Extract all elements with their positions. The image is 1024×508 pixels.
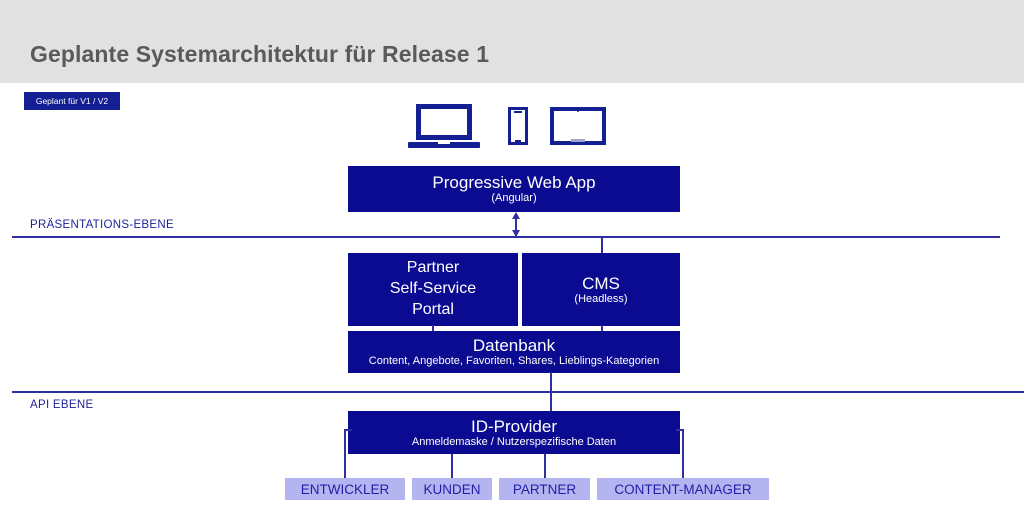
node-title-portal-line1: Partner [407,258,459,279]
connector-id-provider-to-kunden [451,454,453,478]
tablet-home-icon [571,139,585,142]
presentation-layer-divider [12,236,1000,238]
node-id-provider[interactable]: ID-Provider Anmeldemaske / Nutzerspezifi… [348,411,680,454]
node-progressive-web-app[interactable]: Progressive Web App (Angular) [348,166,680,212]
layer-label-api: API EBENE [30,399,93,411]
connector-api-layer-to-id-provider [550,392,552,412]
smartphone-speaker-icon [514,111,522,113]
client-devices-group [408,104,608,154]
version-badge: Geplant für V1 / V2 [24,92,120,110]
connector-id-provider-to-entwickler [344,454,346,478]
role-chip-kunden[interactable]: KUNDEN [412,478,492,500]
laptop-notch-icon [438,141,450,144]
node-subtitle-pwa: (Angular) [491,192,536,204]
node-title-cms: CMS [582,274,620,293]
layer-label-presentation: PRÄSENTATIONS-EBENE [30,219,174,231]
node-subtitle-id-provider: Anmeldemaske / Nutzerspezifische Daten [412,436,616,448]
arrowhead-up-icon [512,212,520,219]
node-title-pwa: Progressive Web App [432,173,595,192]
api-layer-divider [12,391,1024,393]
node-title-datenbank: Datenbank [473,336,555,355]
tablet-camera-icon [577,110,579,112]
connector-id-provider-to-content-manager [682,454,684,478]
arrowhead-down-icon [512,230,520,237]
node-datenbank[interactable]: Datenbank Content, Angebote, Favoriten, … [348,331,680,373]
node-partner-self-service-portal[interactable]: Partner Self-Service Portal [348,253,518,326]
node-subtitle-datenbank: Content, Angebote, Favoriten, Shares, Li… [369,355,659,367]
laptop-icon [416,104,472,140]
node-title-portal-line2: Self-Service [390,279,476,300]
connector-presentation-layer-to-cms [601,237,603,254]
node-subtitle-cms: (Headless) [574,293,627,305]
architecture-diagram-canvas: Geplante Systemarchitektur für Release 1… [0,0,1024,508]
connector-id-provider-to-partner [544,454,546,478]
role-chip-partner[interactable]: PARTNER [499,478,590,500]
connector-datenbank-to-api-layer [550,372,552,392]
role-chip-entwickler[interactable]: ENTWICKLER [285,478,405,500]
page-title: Geplante Systemarchitektur für Release 1 [30,41,489,68]
node-title-id-provider: ID-Provider [471,417,557,436]
node-cms[interactable]: CMS (Headless) [522,253,680,326]
node-title-portal-line3: Portal [412,300,454,321]
role-chip-content-manager[interactable]: CONTENT-MANAGER [597,478,769,500]
smartphone-home-icon [515,140,521,142]
